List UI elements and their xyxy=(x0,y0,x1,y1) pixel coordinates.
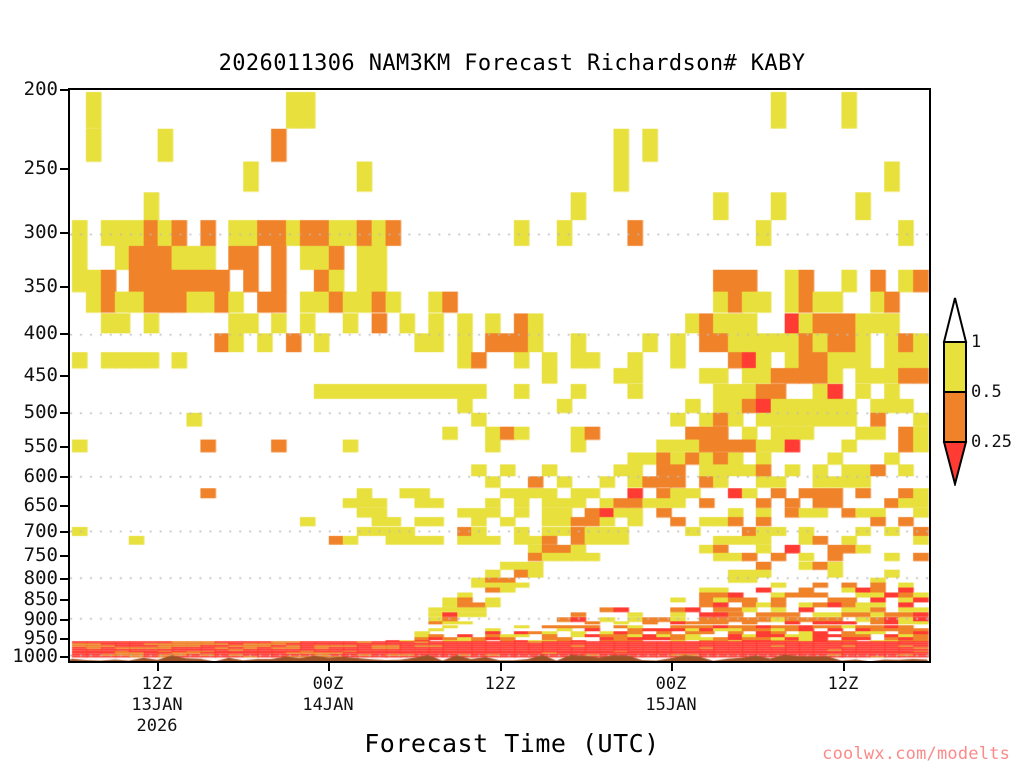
x-tick-label-3: 00Z15JAN xyxy=(611,674,731,716)
x-tick-time-4: 12Z xyxy=(783,674,903,695)
colorbar-segment-0.25-0.5 xyxy=(944,392,966,442)
colorbar-legend: 1 0.5 0.25 xyxy=(941,296,971,486)
plot-area xyxy=(68,88,931,663)
y-tick-mark-700 xyxy=(60,531,68,533)
page-title: 2026011306 NAM3KM Forecast Richardson# K… xyxy=(0,51,1024,76)
y-tick-label-300: 300 xyxy=(24,223,58,242)
x-tick-label-2: 12Z xyxy=(440,674,560,695)
y-tick-mark-350 xyxy=(60,286,68,288)
x-tick-mark-2 xyxy=(500,663,502,671)
x-tick-time-2: 12Z xyxy=(440,674,560,695)
x-tick-date-1: 14JAN xyxy=(268,695,388,716)
y-tick-mark-850 xyxy=(60,599,68,601)
colorbar-label-1: 1 xyxy=(971,334,981,351)
y-tick-label-550: 550 xyxy=(24,437,58,456)
y-tick-mark-200 xyxy=(60,89,68,91)
y-tick-label-850: 850 xyxy=(24,590,58,609)
y-tick-mark-450 xyxy=(60,375,68,377)
colorbar-swatches xyxy=(941,296,971,486)
y-tick-mark-300 xyxy=(60,232,68,234)
y-tick-mark-1000 xyxy=(60,656,68,658)
y-tick-mark-950 xyxy=(60,638,68,640)
y-tick-mark-800 xyxy=(60,578,68,580)
y-tick-mark-500 xyxy=(60,412,68,414)
y-tick-mark-650 xyxy=(60,505,68,507)
y-tick-label-250: 250 xyxy=(24,159,58,178)
x-tick-mark-4 xyxy=(843,663,845,671)
y-tick-mark-600 xyxy=(60,476,68,478)
x-tick-time-3: 00Z xyxy=(611,674,731,695)
y-tick-label-500: 500 xyxy=(24,403,58,422)
x-tick-mark-3 xyxy=(671,663,673,671)
x-tick-mark-0 xyxy=(157,663,159,671)
colorbar-segment-above-1 xyxy=(944,298,966,342)
y-tick-label-1000: 1000 xyxy=(12,647,58,666)
colorbar-segment-below-0.25 xyxy=(944,442,966,484)
y-tick-mark-550 xyxy=(60,446,68,448)
site-watermark: coolwx.com/modelts xyxy=(822,744,1010,764)
x-tick-label-0: 12Z13JAN2026 xyxy=(97,674,217,737)
y-tick-label-450: 450 xyxy=(24,366,58,385)
y-tick-label-400: 400 xyxy=(24,324,58,343)
y-tick-label-200: 200 xyxy=(24,80,58,99)
x-tick-date-3: 15JAN xyxy=(611,695,731,716)
x-tick-label-4: 12Z xyxy=(783,674,903,695)
heatmap-canvas xyxy=(70,90,929,661)
y-tick-label-650: 650 xyxy=(24,496,58,515)
y-tick-mark-750 xyxy=(60,555,68,557)
x-tick-date-0: 13JAN xyxy=(97,695,217,716)
y-tick-mark-900 xyxy=(60,619,68,621)
y-tick-mark-250 xyxy=(60,168,68,170)
y-tick-label-750: 750 xyxy=(24,546,58,565)
y-tick-label-350: 350 xyxy=(24,277,58,296)
colorbar-segment-0.5-1 xyxy=(944,342,966,392)
x-tick-mark-1 xyxy=(328,663,330,671)
y-tick-mark-400 xyxy=(60,333,68,335)
x-tick-label-1: 00Z14JAN xyxy=(268,674,388,716)
y-tick-label-700: 700 xyxy=(24,522,58,541)
colorbar-label-0.5: 0.5 xyxy=(971,384,1002,401)
y-tick-label-800: 800 xyxy=(24,569,58,588)
x-tick-time-1: 00Z xyxy=(268,674,388,695)
y-tick-label-600: 600 xyxy=(24,467,58,486)
colorbar-label-0.25: 0.25 xyxy=(971,434,1012,451)
x-tick-time-0: 12Z xyxy=(97,674,217,695)
